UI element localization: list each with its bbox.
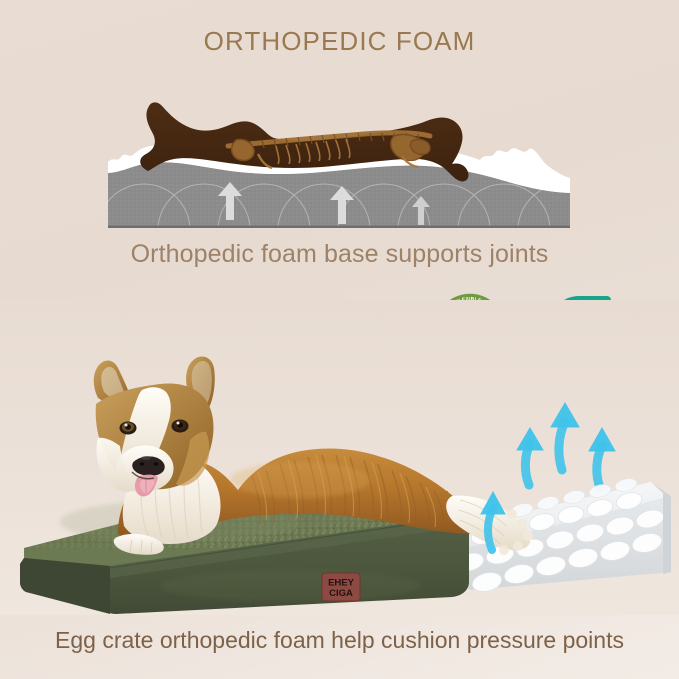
page-title: ORTHOPEDIC FOAM (0, 26, 679, 57)
dog-eye-right (172, 420, 189, 433)
brand-label-patch: EHEY CIGA (321, 572, 361, 602)
dog-eye-left (120, 422, 137, 435)
brand-label-line2: CIGA (329, 588, 353, 599)
product-feature-image: ORTHOPEDIC FOAM (0, 0, 679, 679)
caption-egg-crate-foam: Egg crate orthopedic foam help cushion p… (0, 627, 679, 654)
orthopedic-foam-cross-section-diagram (108, 80, 570, 235)
dog-on-bed-photo (0, 300, 679, 615)
caption-orthopedic-support: Orthopedic foam base supports joints (0, 240, 679, 269)
brand-label-line1: EHEY (328, 578, 355, 589)
